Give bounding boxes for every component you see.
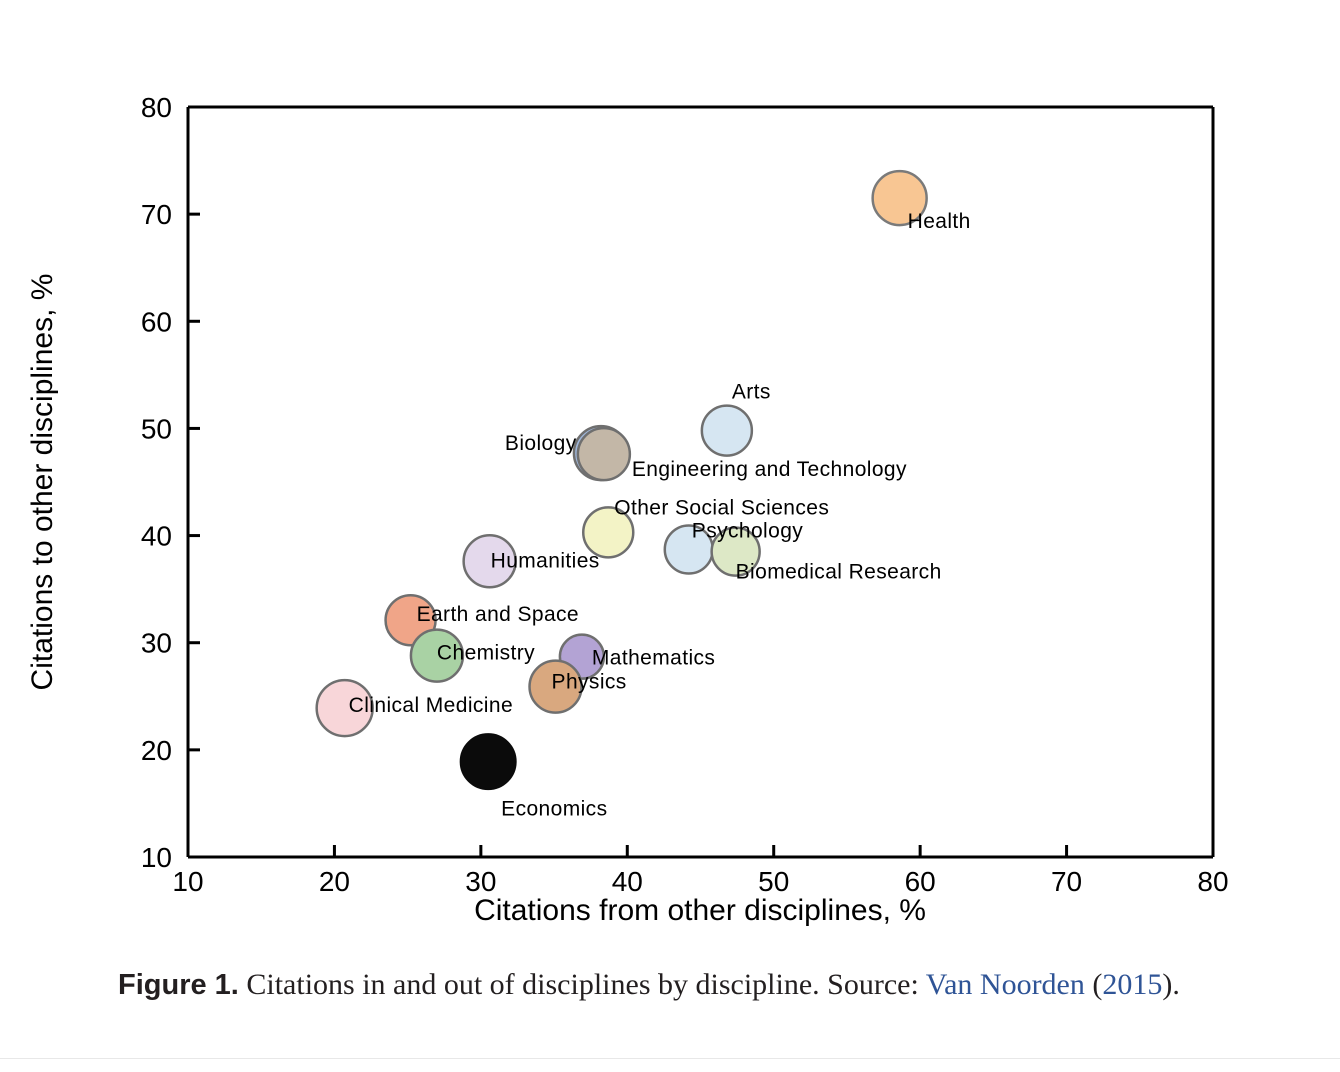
x-tick-label: 20 <box>319 866 350 897</box>
bubble-label-humanities: Humanities <box>491 549 600 572</box>
bubble-label-chemistry: Chemistry <box>437 642 535 665</box>
y-tick-label: 40 <box>141 521 172 552</box>
bubble-label-health: Health <box>908 210 971 233</box>
plot-frame <box>188 107 1213 857</box>
bubble-label-biology: Biology <box>505 432 577 455</box>
y-tick-label: 50 <box>141 413 172 444</box>
bubble-label-psychology: Psychology <box>692 520 803 543</box>
x-axis-title: Citations from other disciplines, % <box>474 894 926 927</box>
caption-author-link[interactable]: Van Noorden <box>926 968 1085 1001</box>
bubble-label-arts: Arts <box>732 381 771 404</box>
y-tick-label: 30 <box>141 628 172 659</box>
figure-caption: Figure 1. Citations in and out of discip… <box>118 966 1248 1004</box>
y-axis-title: Citations to other disciplines, % <box>26 274 59 691</box>
caption-body: Citations in and out of disciplines by d… <box>239 968 926 1001</box>
bubble-arts[interactable] <box>702 406 752 456</box>
page-divider <box>0 1058 1340 1059</box>
x-tick-label: 60 <box>905 866 936 897</box>
bubble-labels: HealthArtsBiologyEngineering and Technol… <box>349 210 971 821</box>
x-tick-label: 40 <box>612 866 643 897</box>
bubble-label-engineering-and-technology: Engineering and Technology <box>632 458 907 481</box>
x-tick-label: 10 <box>172 866 203 897</box>
axis-ticks <box>188 107 1213 857</box>
figure-container: 10203040506070801020304050607080 HealthA… <box>0 0 1340 1072</box>
y-tick-label: 60 <box>141 306 172 337</box>
y-tick-label: 70 <box>141 199 172 230</box>
bubble-label-earth-and-space: Earth and Space <box>417 603 579 626</box>
caption-figure-number: Figure 1. <box>118 969 239 1001</box>
x-tick-label: 30 <box>465 866 496 897</box>
x-tick-label: 50 <box>758 866 789 897</box>
x-tick-label: 80 <box>1197 866 1228 897</box>
bubble-engineering-and-technology[interactable] <box>578 428 630 480</box>
bubble-label-economics: Economics <box>501 798 607 821</box>
bubble-label-biomedical-research: Biomedical Research <box>736 561 942 584</box>
caption-year-link[interactable]: 2015 <box>1102 968 1162 1001</box>
bubble-label-other-social-sciences: Other Social Sciences <box>614 496 829 519</box>
bubble-label-physics: Physics <box>552 671 627 694</box>
y-tick-label: 20 <box>141 735 172 766</box>
axis-tick-labels: 10203040506070801020304050607080 <box>141 92 1229 897</box>
scatter-plot: 10203040506070801020304050607080 HealthA… <box>0 0 1340 960</box>
bubble-label-clinical-medicine: Clinical Medicine <box>349 694 513 717</box>
y-tick-label: 10 <box>141 842 172 873</box>
y-tick-label: 80 <box>141 92 172 123</box>
bubble-label-mathematics: Mathematics <box>592 647 715 670</box>
caption-paren-close: ). <box>1162 968 1180 1001</box>
bubble-economics[interactable] <box>460 734 516 790</box>
caption-paren-open: ( <box>1085 968 1103 1001</box>
x-tick-label: 70 <box>1051 866 1082 897</box>
